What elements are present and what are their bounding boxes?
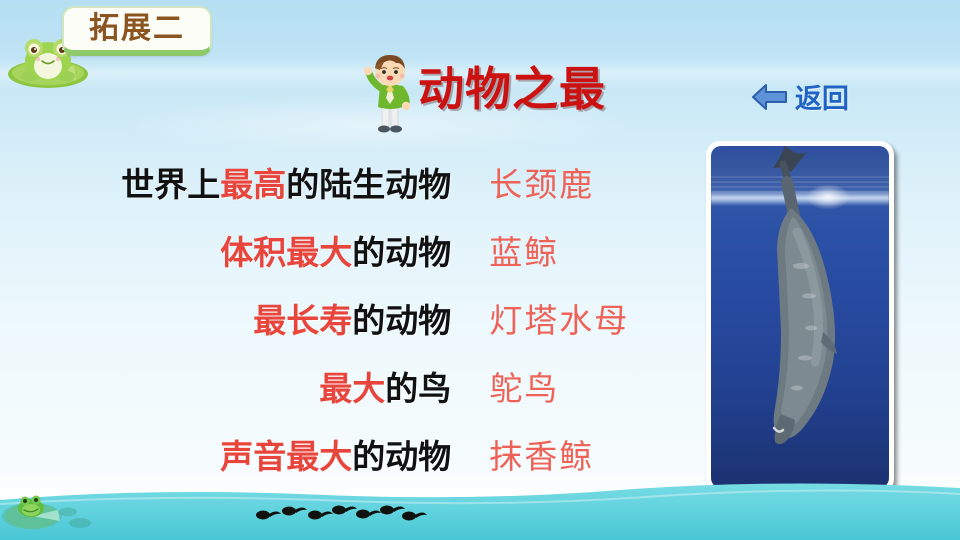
question-highlight: 体积最大 (220, 233, 352, 272)
question-highlight: 最长寿 (253, 301, 352, 340)
list-row: 最长寿的动物 灯塔水母 (40, 304, 690, 372)
frog-lilypad-decoration (2, 490, 98, 534)
whale-photo-image (711, 146, 889, 488)
page-title: 动物之最 (418, 66, 606, 112)
water-band-decoration (0, 478, 960, 540)
question-text: 最大的鸟 (40, 372, 451, 405)
answer-text: 抹香鲸 (489, 440, 690, 473)
animal-superlatives-list: 世界上最高的陆生动物 长颈鹿 体积最大的动物 蓝鲸 最长寿的动物 灯塔水母 最大… (40, 168, 690, 508)
arrow-left-icon (750, 82, 790, 117)
list-row: 最大的鸟 鸵鸟 (40, 372, 690, 440)
sperm-whale-illustration (711, 146, 889, 488)
list-row: 体积最大的动物 蓝鲸 (40, 236, 690, 304)
question-text: 声音最大的动物 (40, 440, 451, 473)
question-highlight: 最大 (319, 369, 385, 408)
question-plain: 的陆生动物 (286, 165, 451, 204)
question-text: 最长寿的动物 (40, 304, 451, 337)
answer-text: 灯塔水母 (489, 304, 690, 337)
question-text: 世界上最高的陆生动物 (40, 168, 451, 201)
section-badge-label: 拓展二 (89, 14, 185, 44)
return-button-label: 返回 (795, 86, 849, 113)
whale-photo-frame (706, 141, 894, 493)
question-plain: 的动物 (352, 301, 451, 340)
list-row: 世界上最高的陆生动物 长颈鹿 (40, 168, 690, 236)
question-plain: 世界上 (121, 165, 220, 204)
answer-text: 长颈鹿 (489, 168, 690, 201)
question-highlight: 最高 (220, 165, 286, 204)
question-plain: 的鸟 (385, 369, 451, 408)
return-button[interactable]: 返回 (750, 82, 849, 117)
boy-character-icon (356, 52, 420, 134)
question-plain: 的动物 (352, 437, 451, 476)
tadpoles-decoration (255, 502, 435, 524)
slide-canvas: 拓展二 (0, 0, 960, 540)
section-badge: 拓展二 (62, 6, 212, 56)
answer-text: 鸵鸟 (489, 372, 690, 405)
question-highlight: 声音最大 (220, 437, 352, 476)
answer-text: 蓝鲸 (489, 236, 690, 269)
question-plain: 的动物 (352, 233, 451, 272)
question-text: 体积最大的动物 (40, 236, 451, 269)
